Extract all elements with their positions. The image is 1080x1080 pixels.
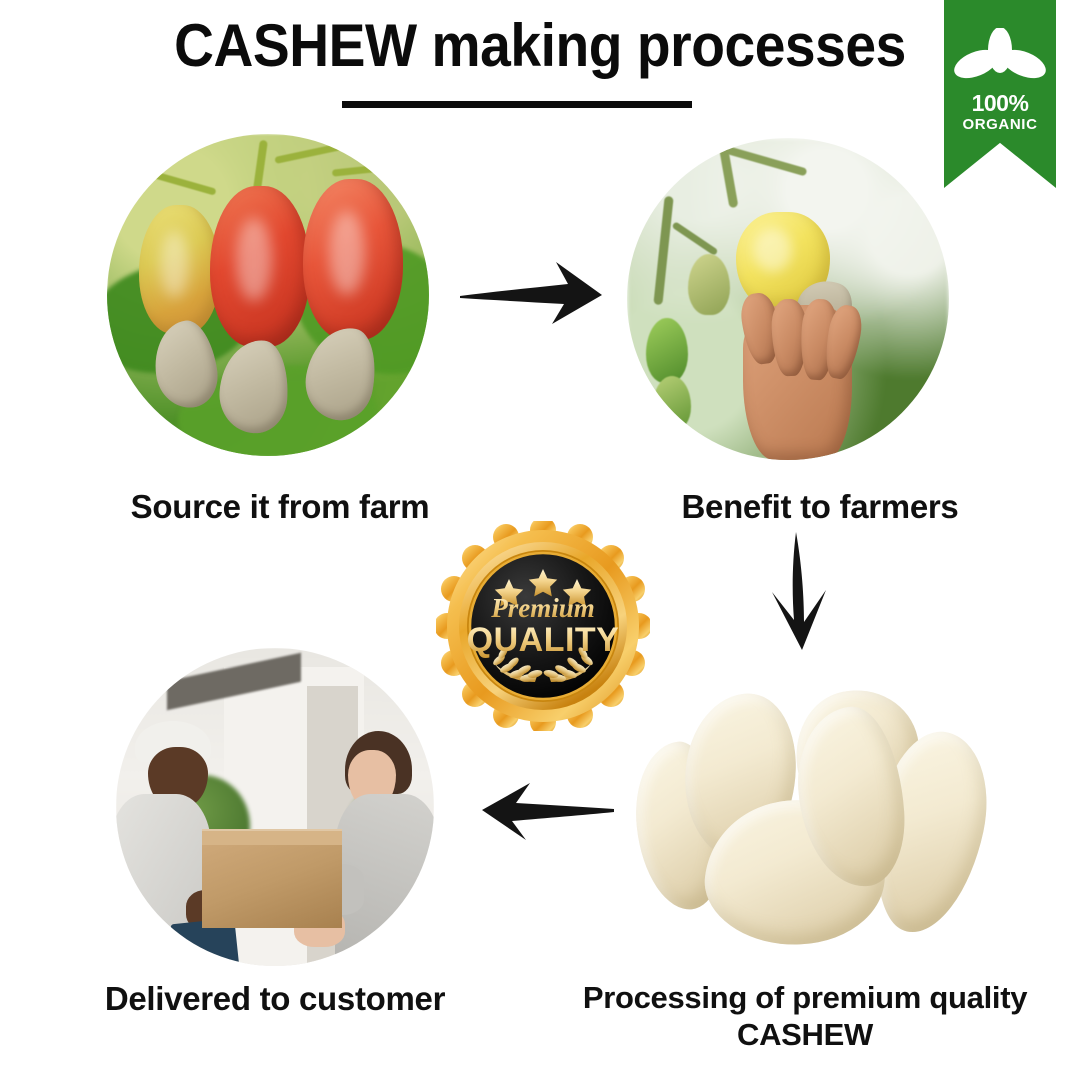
step-label-delivery: Delivered to customer bbox=[25, 980, 525, 1019]
cashew-apple-red bbox=[303, 179, 403, 340]
organic-word: ORGANIC bbox=[944, 117, 1056, 132]
arrow-farmer-to-processing bbox=[752, 528, 848, 660]
page-title: CASHEW making processes bbox=[43, 14, 1037, 77]
seal-main-label: QUALITY bbox=[467, 621, 620, 659]
step-label-processing: Processing of premium quality CASHEW bbox=[545, 980, 1065, 1053]
premium-quality-seal: Premium QUALITY bbox=[436, 521, 650, 731]
delivery-box bbox=[202, 839, 342, 928]
organic-badge: 100% ORGANIC bbox=[944, 0, 1056, 188]
step-image-farmer bbox=[627, 138, 949, 460]
step-image-farm bbox=[107, 134, 429, 456]
infographic-canvas: CASHEW making processes 100% ORGANIC bbox=[0, 0, 1080, 1080]
step-label-farmer: Benefit to farmers bbox=[570, 488, 1070, 527]
title-underline bbox=[342, 101, 692, 108]
cashew-apple-yellow bbox=[139, 205, 220, 334]
unripe-cashew-apple bbox=[688, 254, 730, 315]
step-label-farm: Source it from farm bbox=[30, 488, 530, 527]
delivery-box-lid bbox=[202, 829, 342, 845]
organic-percent: 100% bbox=[944, 92, 1056, 115]
step-image-delivery bbox=[116, 648, 434, 966]
arrow-farm-to-farmer bbox=[452, 252, 612, 338]
seal-script-label: Premium bbox=[490, 593, 595, 623]
three-leaves-icon bbox=[944, 28, 1056, 86]
arrow-processing-to-delivery bbox=[480, 772, 620, 852]
cashew-apple-red bbox=[210, 186, 310, 347]
step-image-processing bbox=[630, 690, 975, 980]
unripe-cashew-apple bbox=[653, 376, 692, 431]
unripe-cashew-apple bbox=[646, 318, 688, 382]
